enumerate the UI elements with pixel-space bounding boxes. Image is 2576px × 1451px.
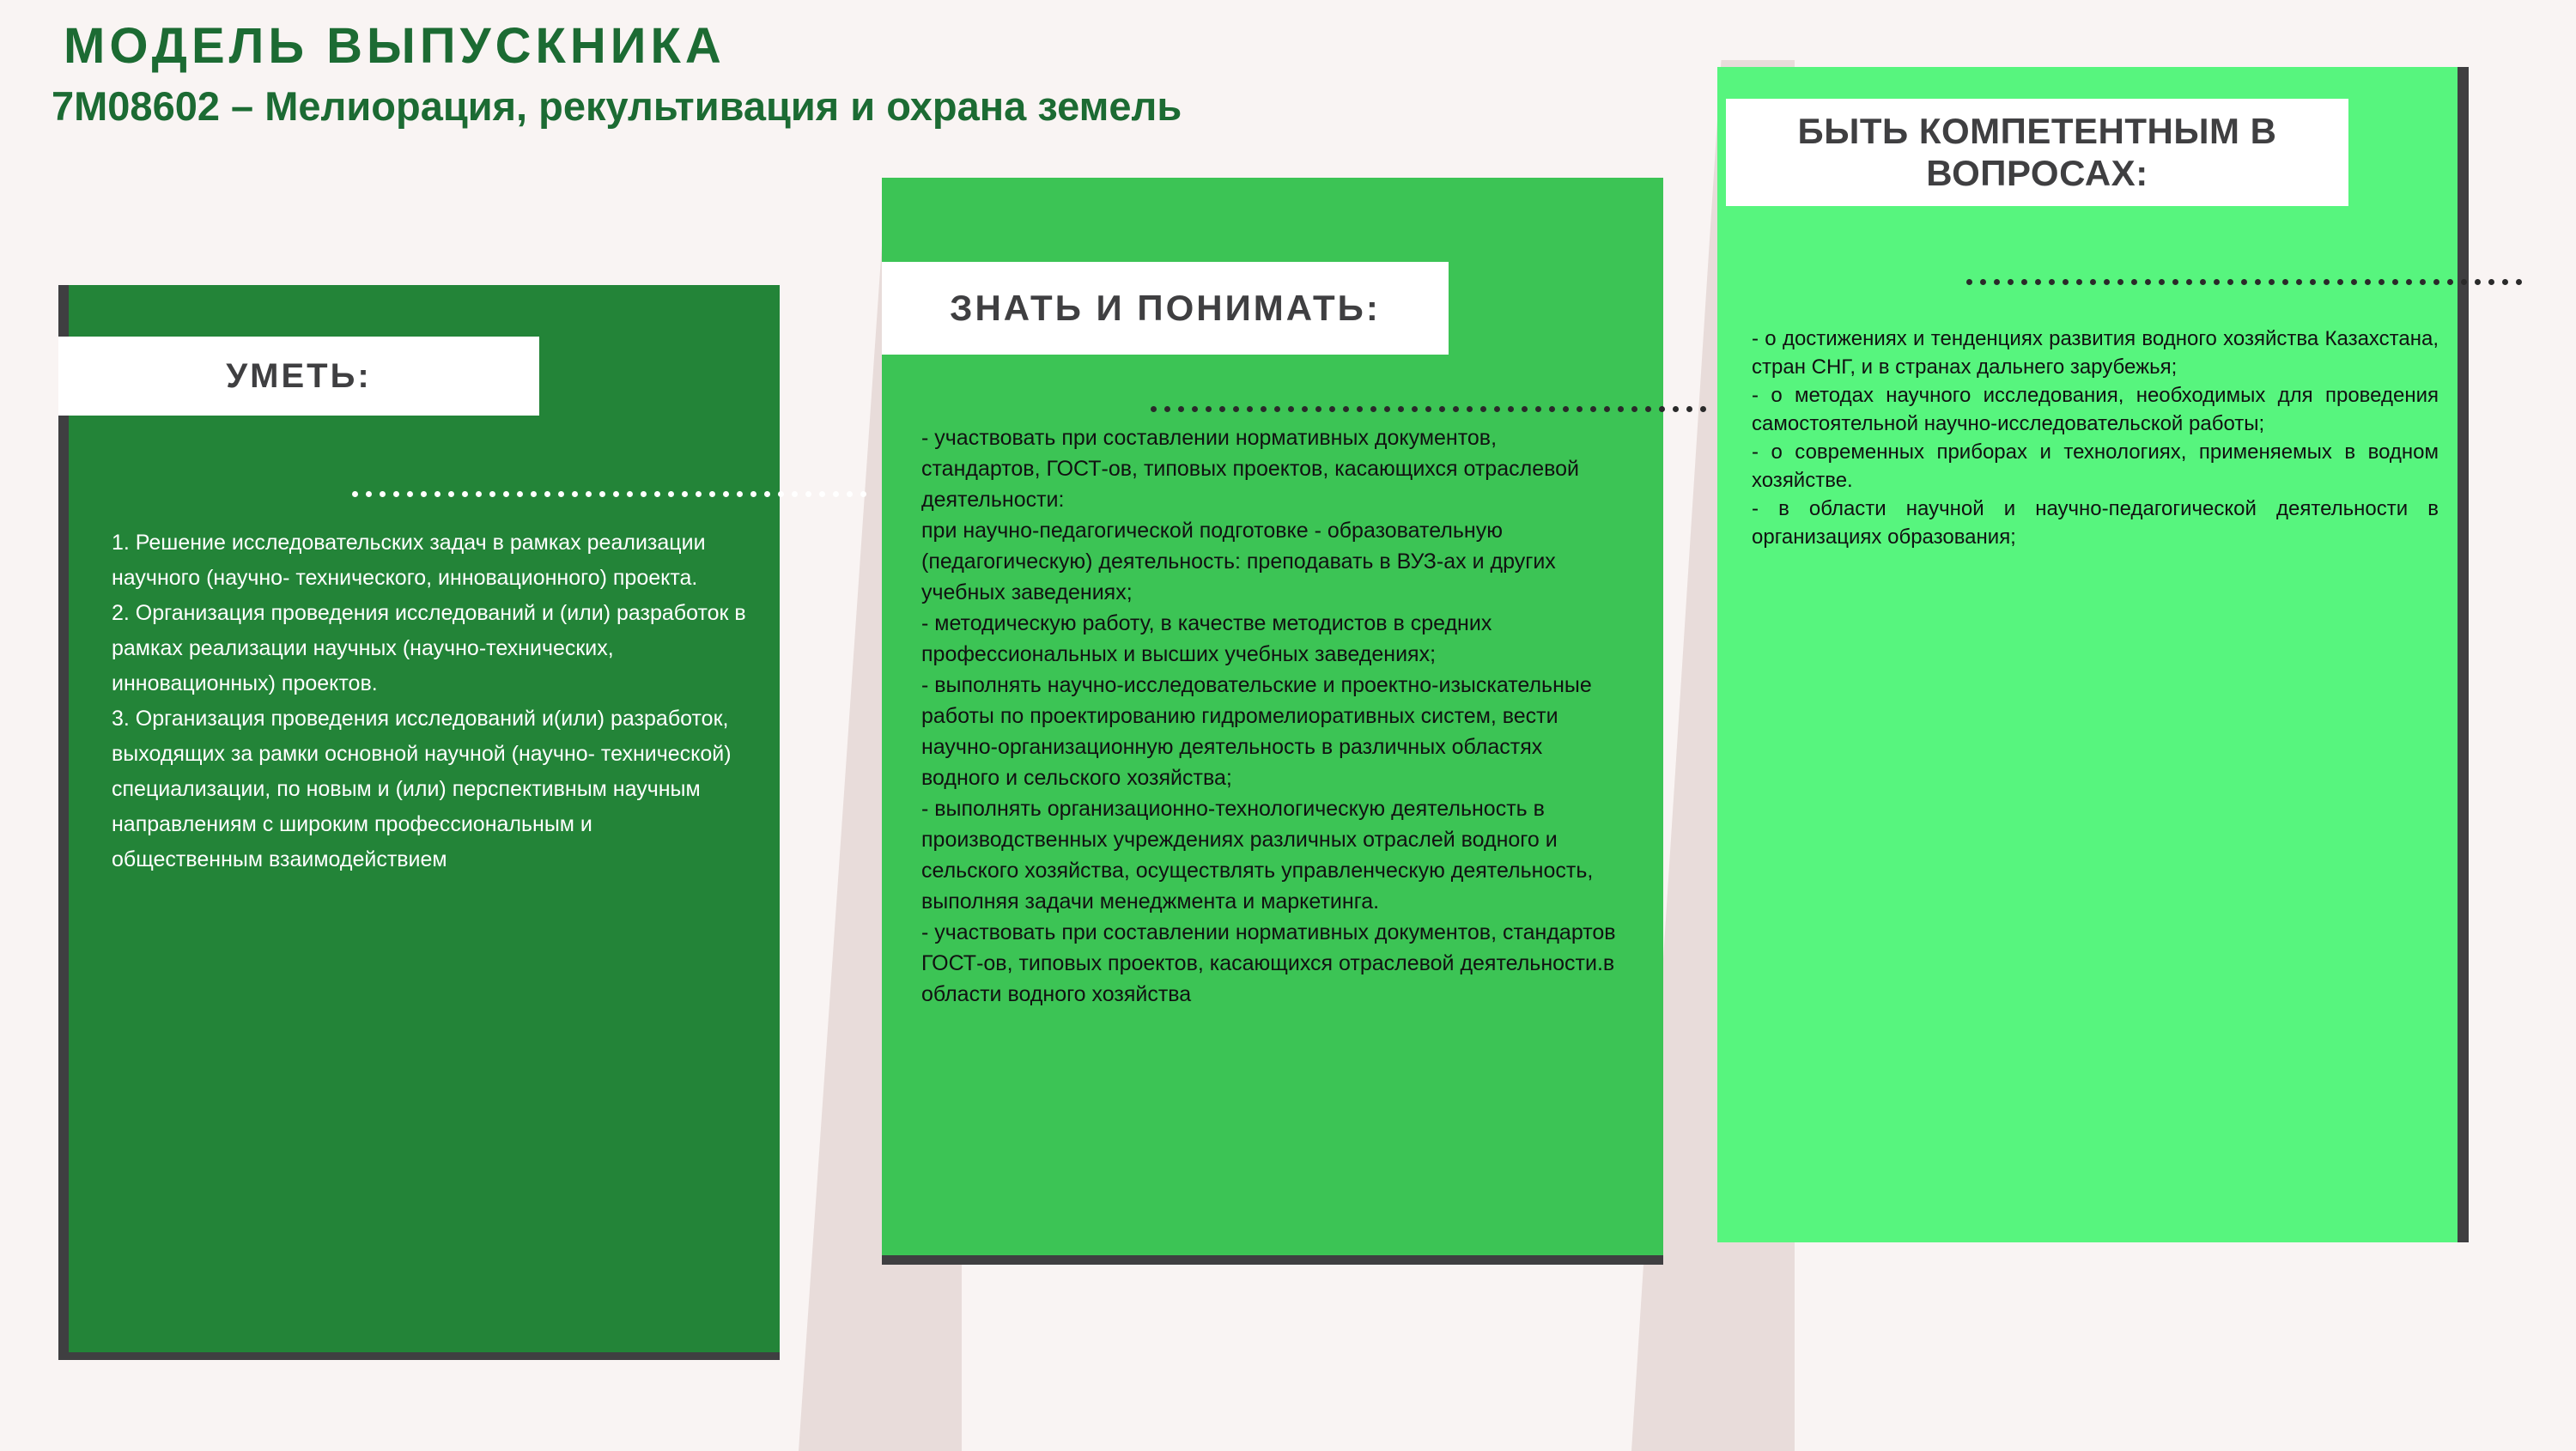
dotted-divider-umet (352, 487, 874, 495)
divider-dot (847, 491, 853, 497)
panel-kompetentnym-header-label: БЫТЬ КОМПЕТЕНТНЫМ В ВОПРОСАХ: (1726, 111, 2348, 194)
dotted-divider-znat (1151, 402, 1714, 410)
divider-dot (2516, 279, 2522, 285)
panel-znat-header-label: ЗНАТЬ И ПОНИМАТЬ: (950, 288, 1381, 329)
panel-umet-body: 1. Решение исследовательских задач в рам… (112, 525, 747, 877)
dotted-divider-kompetentnym (1966, 275, 2530, 283)
divider-dot (1686, 406, 1692, 412)
divider-dot (1659, 406, 1665, 412)
panel-umet-header-label: УМЕТЬ: (226, 357, 371, 396)
divider-dot (819, 491, 825, 497)
page-title: МОДЕЛЬ ВЫПУСКНИКА (64, 21, 1597, 73)
divider-dot (2475, 279, 2481, 285)
page-subtitle: 7М08602 – Мелиорация, рекультивация и ох… (52, 85, 1597, 127)
panel-znat-body: - участвовать при составлении нормативны… (921, 422, 1617, 1010)
panel-znat-header: ЗНАТЬ И ПОНИМАТЬ: (882, 262, 1449, 355)
divider-dot (1673, 406, 1679, 412)
panel-byt-kompetentnym (1717, 67, 2469, 1242)
slide-canvas: МОДЕЛЬ ВЫПУСКНИКА 7М08602 – Мелиорация, … (0, 0, 2576, 1449)
divider-dot (2488, 279, 2494, 285)
divider-dot (778, 491, 784, 497)
title-block: МОДЕЛЬ ВЫПУСКНИКА 7М08602 – Мелиорация, … (52, 21, 1597, 127)
divider-dot (792, 491, 798, 497)
panel-kompetentnym-body: - о достижениях и тенденциях развития во… (1752, 325, 2439, 551)
panel-kompetentnym-header: БЫТЬ КОМПЕТЕНТНЫМ В ВОПРОСАХ: (1726, 99, 2348, 206)
panel-umet-header: УМЕТЬ: (58, 337, 539, 416)
divider-dot (2502, 279, 2508, 285)
divider-dot (805, 491, 811, 497)
divider-dot (833, 491, 839, 497)
